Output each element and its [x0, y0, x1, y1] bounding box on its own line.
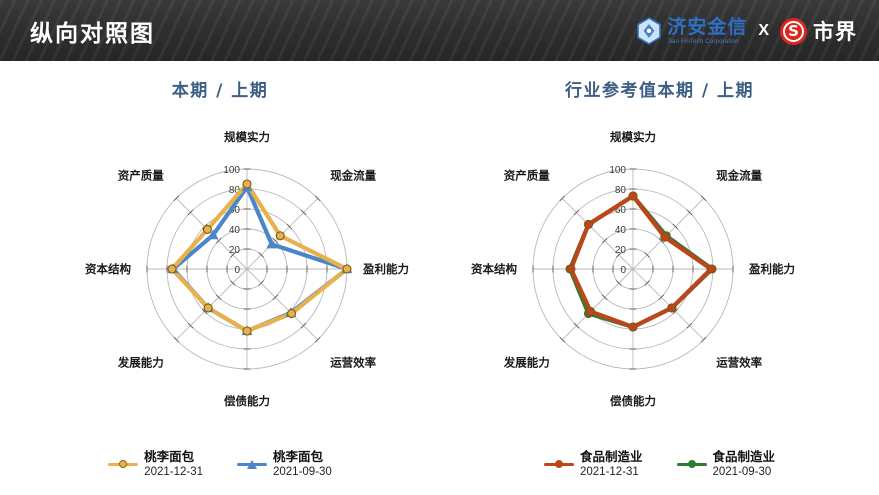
- legend-text: 食品制造业2021-12-31: [580, 450, 643, 479]
- radar-axis-label: 偿债能力: [224, 394, 270, 408]
- hexagon-logo-icon: [636, 17, 662, 45]
- radar-svg-company: 020406080100规模实力现金流量盈利能力运营效率偿债能力发展能力资本结构…: [0, 103, 440, 423]
- legend-item[interactable]: 食品制造业2021-12-31: [544, 450, 643, 479]
- radar-rtick-label: 0: [620, 265, 626, 276]
- radar-axis-label: 现金流量: [330, 169, 376, 183]
- radar-data-point: [168, 265, 176, 273]
- radar-data-point: [661, 233, 669, 241]
- radar-axis-label: 运营效率: [716, 355, 762, 369]
- radar-data-point: [629, 192, 637, 200]
- page-header: 纵向对照图 济安金信 Jian FinTech Corporation X S …: [0, 0, 879, 61]
- radar-axis-label: 运营效率: [330, 355, 376, 369]
- radar-axis-label: 资本结构: [471, 262, 517, 276]
- radar-series-line: [173, 187, 347, 331]
- radar-rtick-label: 20: [229, 245, 241, 256]
- legend-series-date: 2021-09-30: [713, 466, 776, 479]
- radar-rtick-label: 0: [234, 265, 240, 276]
- radar-axis-label: 偿债能力: [610, 394, 656, 408]
- legend-marker-icon: [108, 458, 138, 471]
- radar-data-point: [567, 265, 575, 273]
- radar-svg-industry: 020406080100规模实力现金流量盈利能力运营效率偿债能力发展能力资本结构…: [440, 103, 879, 423]
- radar-axis-label: 规模实力: [610, 130, 656, 144]
- chart-title-company: 本期 / 上期: [0, 76, 440, 101]
- radar-data-point: [587, 307, 595, 315]
- shijie-name: 市界: [813, 16, 857, 46]
- legend-company: 桃李面包2021-12-31桃李面包2021-09-30: [0, 450, 440, 479]
- shijie-badge-icon: S: [780, 18, 807, 45]
- radar-data-point: [343, 265, 351, 273]
- radar-axis-label: 盈利能力: [362, 262, 409, 276]
- radar-data-point: [584, 220, 592, 228]
- legend-dot-icon: [119, 460, 127, 468]
- radar-rtick-label: 100: [609, 165, 626, 176]
- radar-chart-industry: 020406080100规模实力现金流量盈利能力运营效率偿债能力发展能力资本结构…: [440, 103, 879, 423]
- jian-fintech-name-cn: 济安金信: [667, 18, 747, 37]
- legend-marker-icon: [544, 458, 574, 471]
- legend-marker-icon: [237, 458, 267, 471]
- radar-axis-label: 现金流量: [716, 169, 762, 183]
- radar-rtick-label: 100: [223, 165, 240, 176]
- legend-text: 桃李面包2021-12-31: [144, 450, 203, 479]
- legend-series-name: 桃李面包: [144, 450, 203, 464]
- radar-rtick-label: 20: [615, 245, 627, 256]
- radar-data-point: [204, 304, 212, 312]
- legend-item[interactable]: 桃李面包2021-12-31: [108, 450, 203, 479]
- radar-axis-label: 资产质量: [118, 169, 164, 183]
- radar-spoke: [176, 269, 247, 340]
- legend-series-name: 食品制造业: [580, 450, 643, 464]
- radar-axis-label: 盈利能力: [748, 262, 795, 276]
- radar-data-point: [276, 232, 284, 240]
- legend-series-name: 食品制造业: [713, 450, 776, 464]
- radar-axis-label: 发展能力: [117, 355, 164, 369]
- radar-data-point: [629, 323, 637, 331]
- legend-series-name: 桃李面包: [273, 450, 332, 464]
- chart-title-industry: 行业参考值本期 / 上期: [440, 76, 879, 101]
- radar-data-point: [668, 304, 676, 312]
- radar-rtick-label: 40: [229, 225, 241, 236]
- radar-data-point: [203, 225, 211, 233]
- legend-text: 食品制造业2021-09-30: [713, 450, 776, 479]
- chart-panel-company: 本期 / 上期 020406080100规模实力现金流量盈利能力运营效率偿债能力…: [0, 61, 440, 495]
- radar-rtick-label: 80: [615, 185, 627, 196]
- radar-chart-company: 020406080100规模实力现金流量盈利能力运营效率偿债能力发展能力资本结构…: [0, 103, 440, 423]
- logo-separator-x: X: [758, 22, 769, 40]
- radar-axis-label: 规模实力: [224, 130, 270, 144]
- radar-data-point: [288, 310, 296, 318]
- radar-data-point: [707, 265, 715, 273]
- legend-series-date: 2021-09-30: [273, 466, 332, 479]
- legend-dot-icon: [688, 460, 696, 468]
- legend-text: 桃李面包2021-09-30: [273, 450, 332, 479]
- legend-marker-icon: [677, 458, 707, 471]
- legend-triangle-icon: [247, 460, 257, 469]
- shijie-logo: S 市界: [780, 16, 857, 46]
- radar-rtick-label: 40: [615, 225, 627, 236]
- legend-dot-icon: [555, 460, 563, 468]
- radar-spoke: [247, 269, 318, 340]
- radar-axis-label: 发展能力: [503, 355, 550, 369]
- jian-fintech-name-en: Jian FinTech Corporation: [667, 39, 747, 45]
- radar-data-point: [243, 180, 251, 188]
- page-title: 纵向对照图: [30, 14, 155, 48]
- logo-zone: 济安金信 Jian FinTech Corporation X S 市界: [636, 11, 857, 51]
- legend-series-date: 2021-12-31: [144, 466, 203, 479]
- legend-item[interactable]: 桃李面包2021-09-30: [237, 450, 332, 479]
- chart-panel-industry: 行业参考值本期 / 上期 020406080100规模实力现金流量盈利能力运营效…: [440, 61, 879, 495]
- radar-spoke: [633, 269, 704, 340]
- legend-series-date: 2021-12-31: [580, 466, 643, 479]
- radar-data-point: [243, 327, 251, 335]
- jian-fintech-wordmark: 济安金信 Jian FinTech Corporation: [667, 18, 747, 45]
- legend-item[interactable]: 食品制造业2021-09-30: [677, 450, 776, 479]
- shijie-badge-letter: S: [780, 18, 807, 45]
- jian-fintech-logo: 济安金信 Jian FinTech Corporation: [636, 17, 747, 45]
- radar-axis-label: 资产质量: [504, 169, 550, 183]
- legend-industry: 食品制造业2021-12-31食品制造业2021-09-30: [440, 450, 879, 479]
- radar-axis-label: 资本结构: [85, 262, 131, 276]
